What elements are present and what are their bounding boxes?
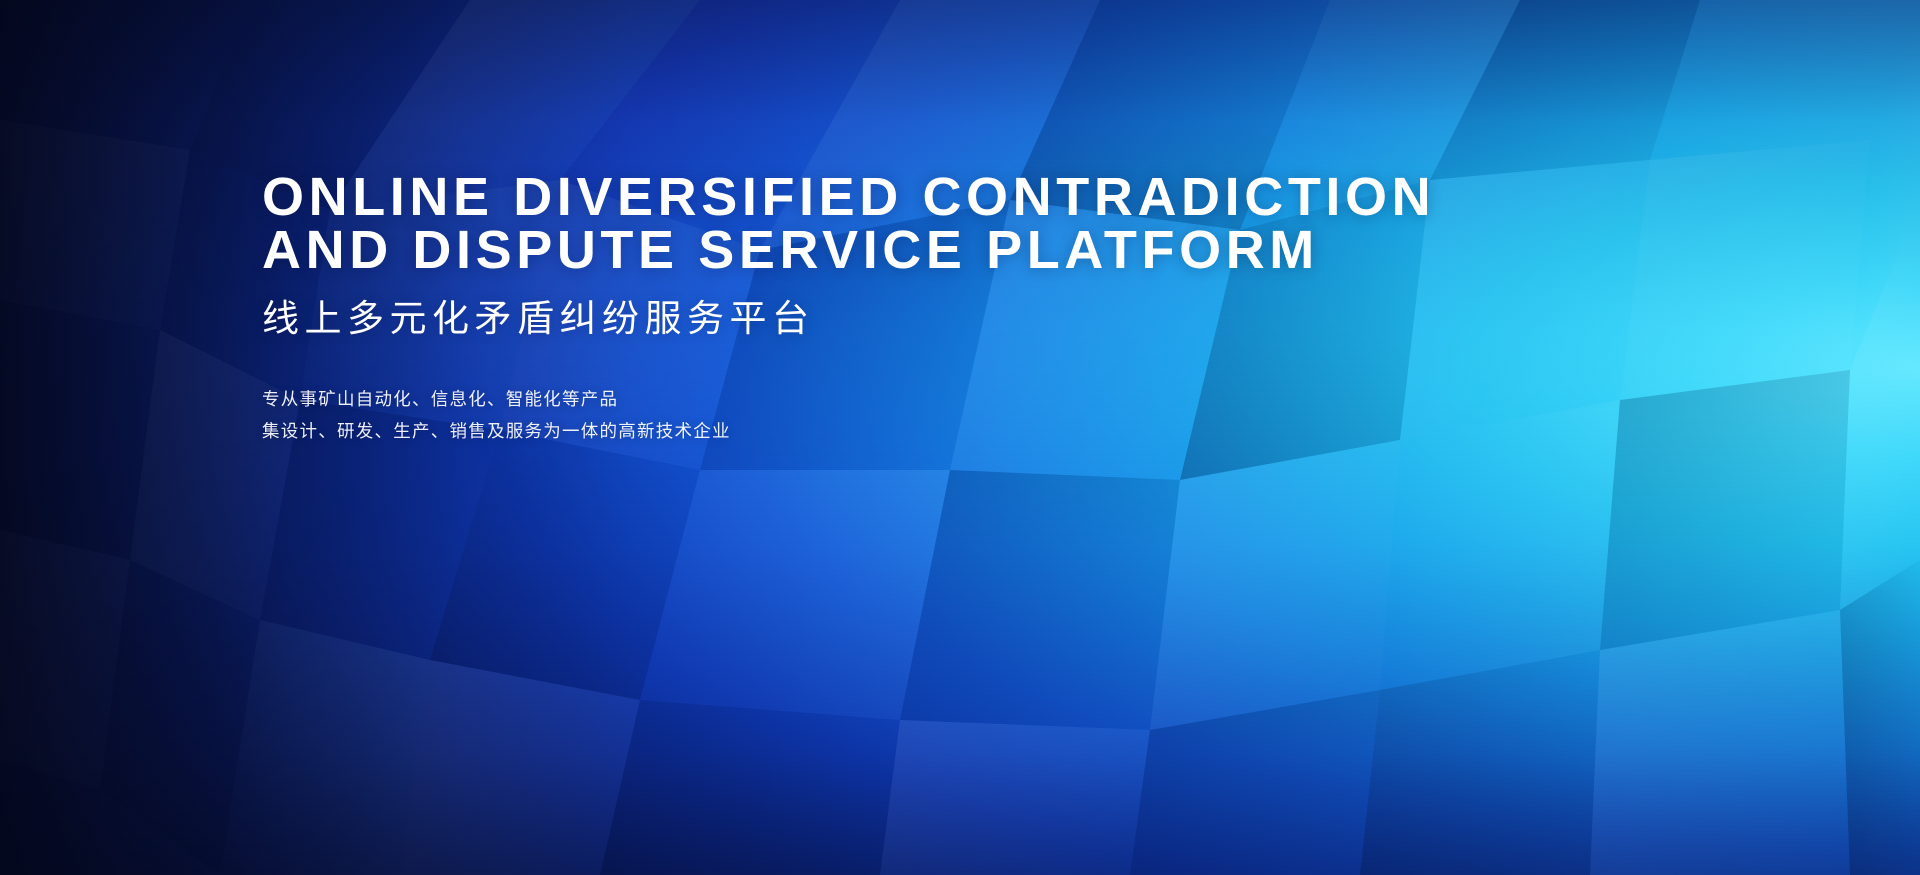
page-subtitle: 线上多元化矛盾纠纷服务平台	[262, 297, 1562, 341]
headline-line-1: ONLINE DIVERSIFIED CONTRADICTION	[262, 171, 1562, 224]
description-line-2: 集设计、研发、生产、销售及服务为一体的高新技术企业	[262, 415, 1562, 447]
hero-content: ONLINE DIVERSIFIED CONTRADICTION AND DIS…	[262, 171, 1562, 447]
headline-line-2: AND DISPUTE SERVICE PLATFORM	[262, 224, 1562, 277]
description-line-1: 专从事矿山自动化、信息化、智能化等产品	[262, 383, 1562, 415]
hero-banner: ONLINE DIVERSIFIED CONTRADICTION AND DIS…	[0, 0, 1920, 875]
company-description: 专从事矿山自动化、信息化、智能化等产品 集设计、研发、生产、销售及服务为一体的高…	[262, 383, 1562, 447]
page-title: ONLINE DIVERSIFIED CONTRADICTION AND DIS…	[262, 171, 1562, 277]
